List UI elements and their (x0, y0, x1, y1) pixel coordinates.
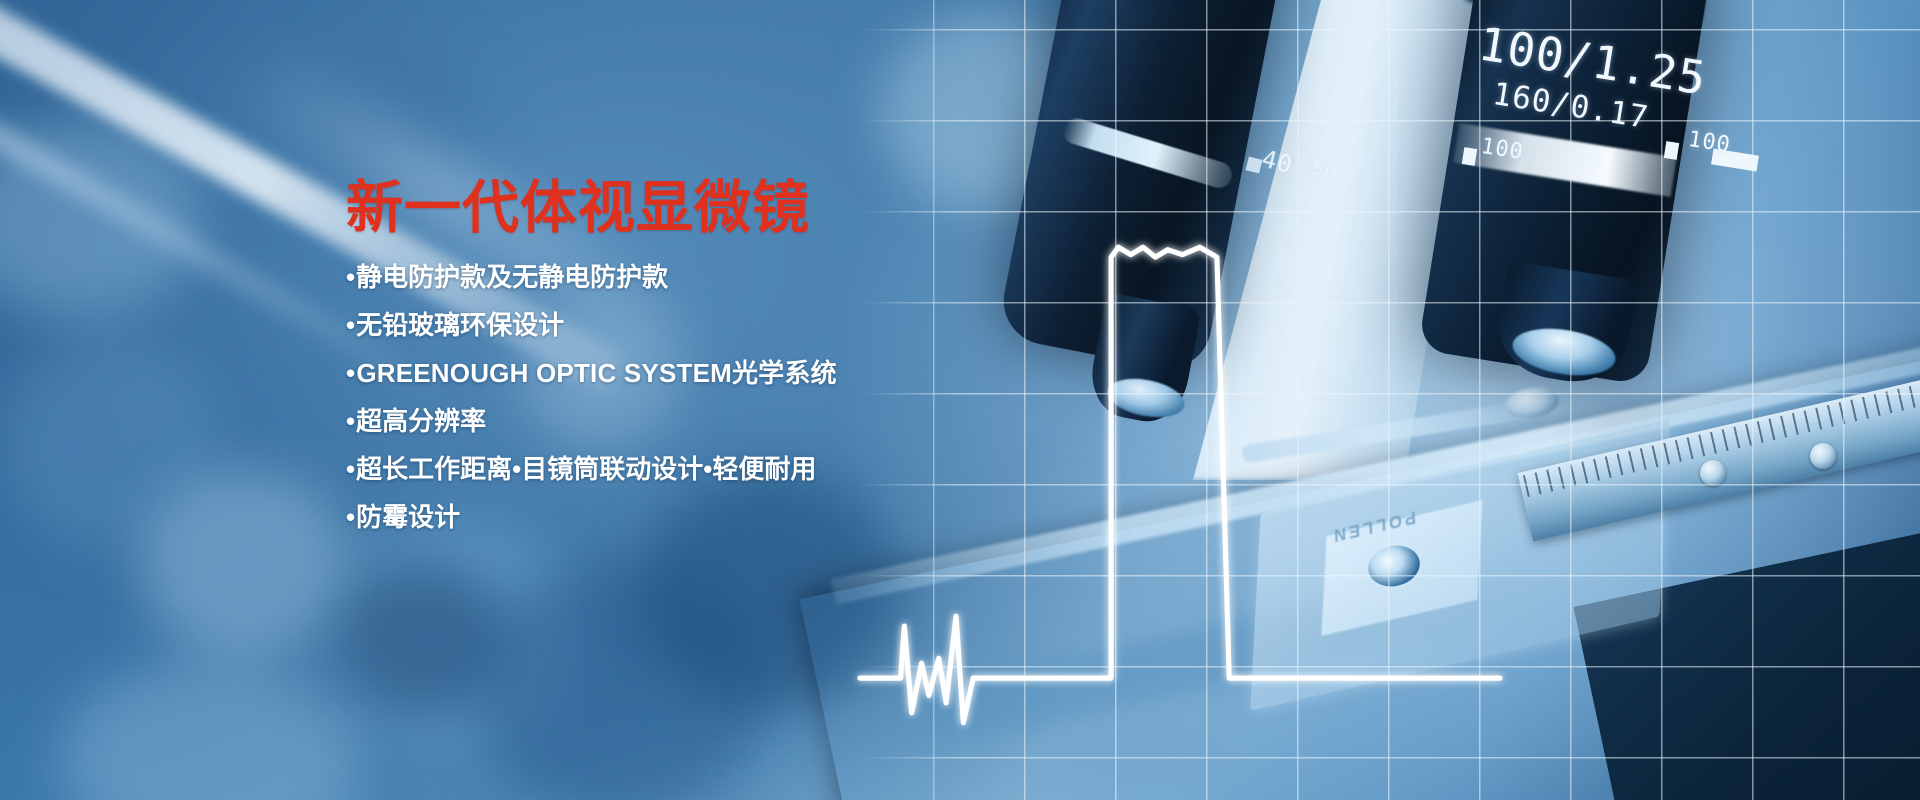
feature-item: •无铅玻璃环保设计 (346, 312, 966, 338)
banner-copy: 新一代体视显微镜 •静电防护款及无静电防护款•无铅玻璃环保设计•GREENOUG… (346, 178, 966, 552)
bullet-icon: • (346, 312, 355, 338)
feature-item-label: 防霉设计 (356, 502, 460, 532)
feature-item: •超高分辨率 (346, 408, 966, 434)
bullet-icon: • (346, 264, 355, 290)
objective-scale-tick (1462, 147, 1477, 166)
bullet-icon: • (346, 408, 355, 434)
feature-item-label: GREENOUGH OPTIC SYSTEM光学系统 (356, 358, 836, 388)
feature-item-label: 静电防护款及无静电防护款 (356, 262, 668, 292)
feature-item: •防霉设计 (346, 504, 966, 530)
feature-item-label: 超高分辨率 (356, 406, 486, 436)
page-title: 新一代体视显微镜 (346, 178, 966, 240)
feature-item-label: 无铅玻璃环保设计 (356, 310, 564, 340)
feature-item: •超长工作距离•目镜筒联动设计•轻便耐用 (346, 456, 966, 482)
promo-banner: POLLEN 40 50 100/1.25 160/0.17 100 100 (0, 0, 1920, 800)
feature-item: •GREENOUGH OPTIC SYSTEM光学系统 (346, 360, 966, 386)
feature-item: •静电防护款及无静电防护款 (346, 264, 966, 290)
bullet-icon: • (346, 504, 355, 530)
objective-scale-tick (1664, 141, 1679, 160)
bullet-icon: • (346, 456, 355, 482)
feature-list: •静电防护款及无静电防护款•无铅玻璃环保设计•GREENOUGH OPTIC S… (346, 264, 966, 530)
feature-item-label: 超长工作距离•目镜筒联动设计•轻便耐用 (356, 454, 816, 484)
bullet-icon: • (346, 360, 355, 386)
